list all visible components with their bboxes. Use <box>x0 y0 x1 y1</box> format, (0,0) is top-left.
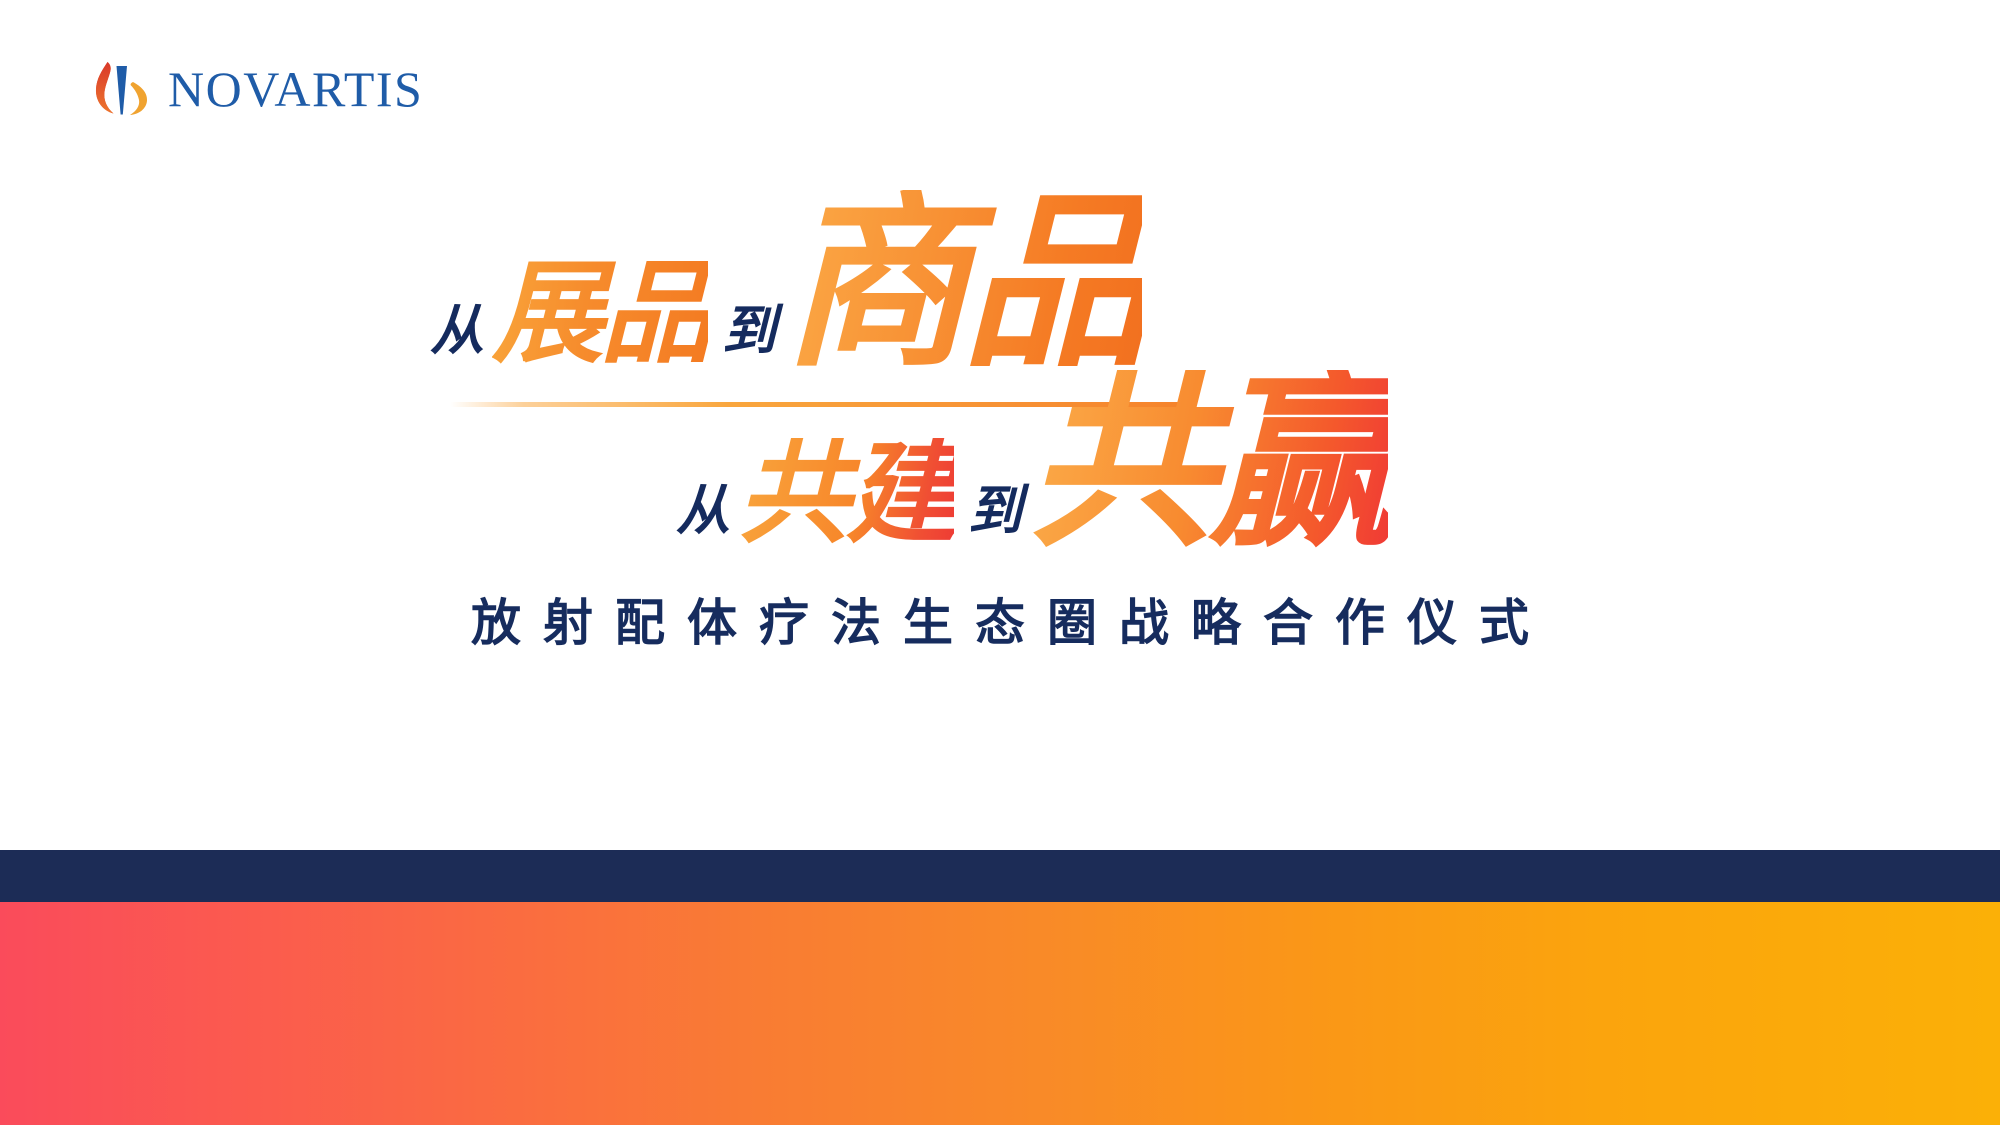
title-line2-to: 到 <box>968 484 1020 538</box>
event-subtitle: 放射配体疗法生态圈战略合作仪式 <box>0 598 2000 648</box>
title-line2-hero-word: 共赢 <box>1028 370 1388 558</box>
title-line1-from: 从 <box>430 304 482 358</box>
event-title-lockup: 从 展品 到 商品 从 共建 到 共赢 <box>0 190 2000 660</box>
title-slide: NOVARTIS 从 展品 到 商品 从 共建 到 共赢 放射配体疗法生态圈战略… <box>0 0 2000 1125</box>
novartis-wordmark: NOVARTIS <box>168 64 423 114</box>
title-line2-from: 从 <box>676 484 728 538</box>
novartis-logo: NOVARTIS <box>92 58 423 120</box>
footer-navy-bar <box>0 850 2000 902</box>
title-line1-hero-word: 商品 <box>782 190 1142 378</box>
title-line-1: 从 展品 到 商品 <box>430 190 1142 364</box>
title-line1-to: 到 <box>722 304 774 358</box>
novartis-flame-icon <box>92 58 152 120</box>
title-line1-mid-word: 展品 <box>492 258 708 370</box>
footer-gradient-bar <box>0 902 2000 1125</box>
title-line-2: 从 共建 到 共赢 <box>676 370 1388 544</box>
title-line2-mid-word: 共建 <box>738 438 954 550</box>
